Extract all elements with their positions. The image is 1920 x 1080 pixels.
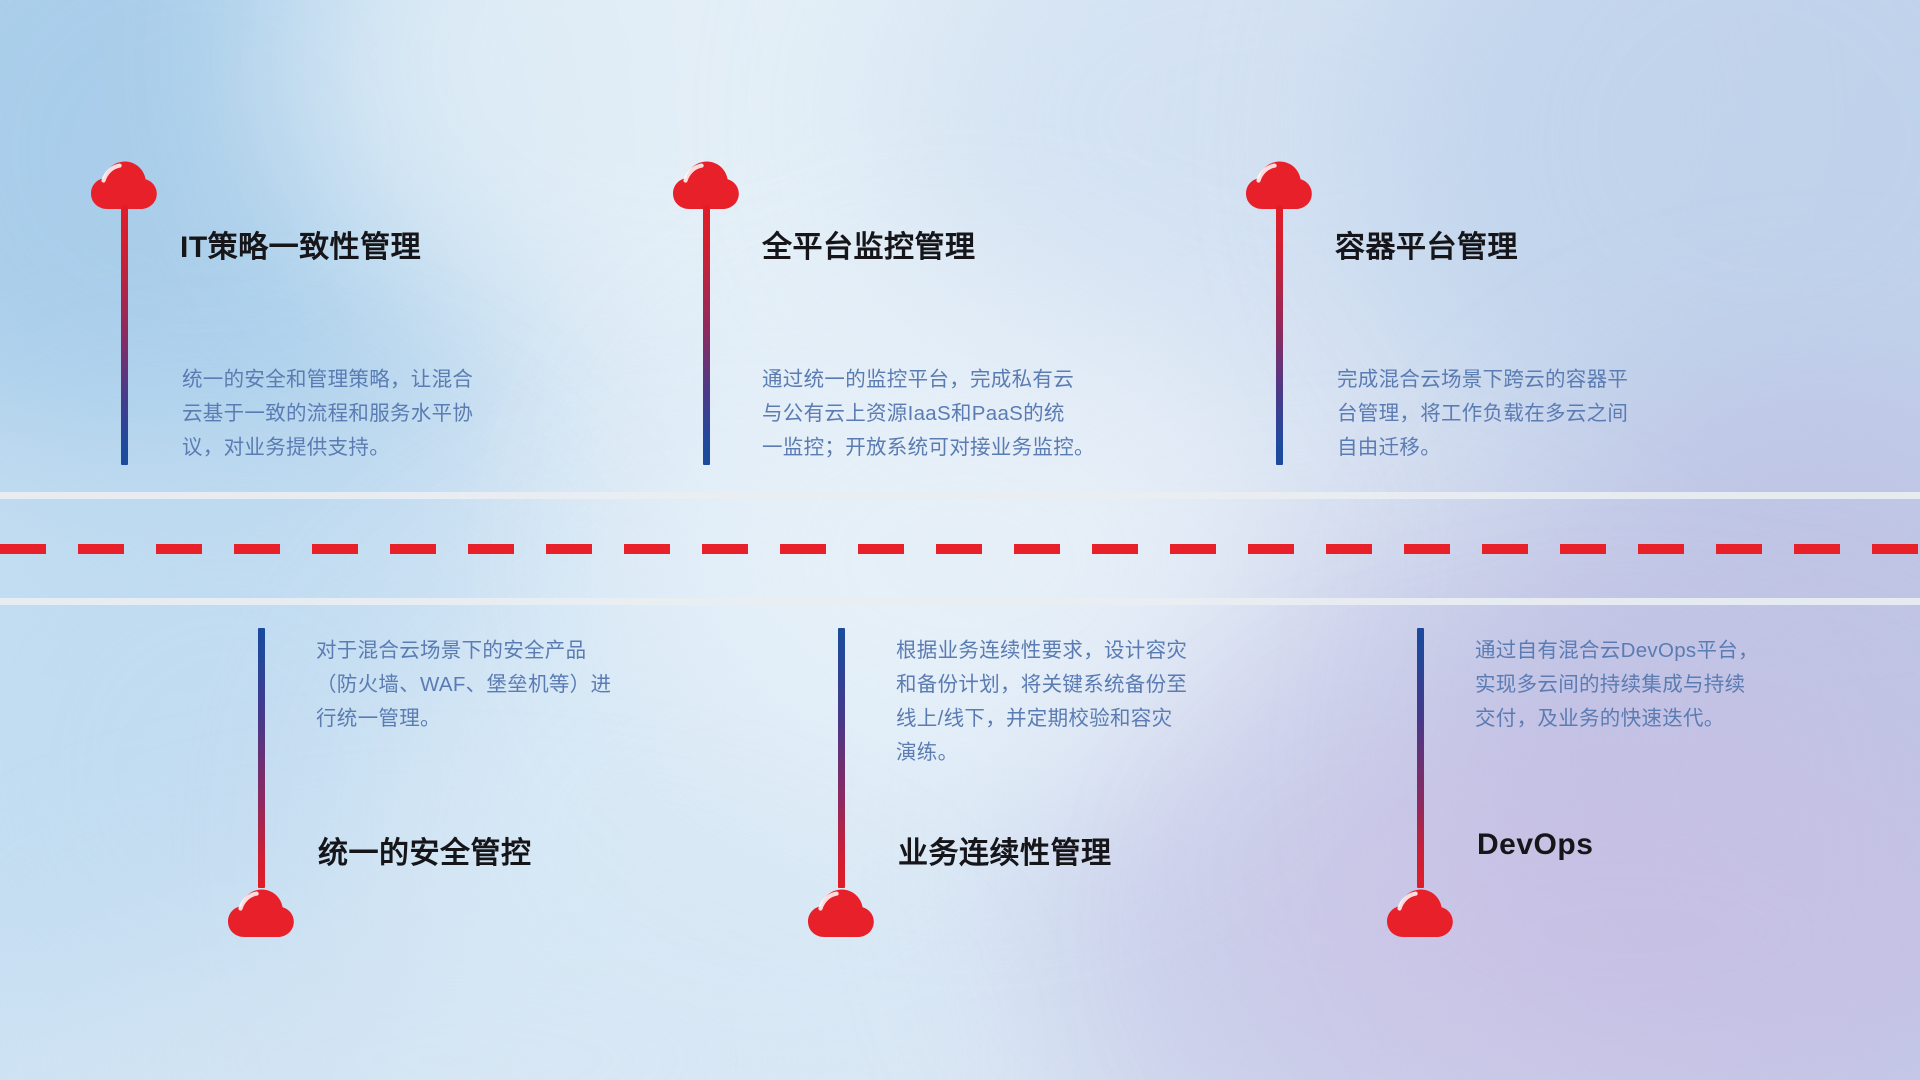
- bottom-heading-2: 业务连续性管理: [898, 828, 1112, 872]
- cloud-icon: [227, 888, 295, 938]
- cloud-icon: [90, 160, 158, 210]
- bottom-body-2: 根据业务连续性要求，设计容灾 和备份计划，将关键系统备份至 线上/线下，并定期校…: [896, 634, 1326, 770]
- cloud-icon: [1386, 888, 1454, 938]
- timeline-bar: [838, 628, 845, 888]
- timeline-bar: [258, 628, 265, 888]
- cloud-icon: [1245, 160, 1313, 210]
- timeline-bar: [121, 205, 128, 465]
- top-heading-2: 全平台监控管理: [762, 222, 976, 266]
- divider-dashed-line: [0, 544, 1920, 554]
- top-body-1: 统一的安全和管理策略，让混合 云基于一致的流程和服务水平协 议，对业务提供支持。: [182, 363, 612, 465]
- bottom-body-3: 通过自有混合云DevOps平台， 实现多云间的持续集成与持续 交付，及业务的快速…: [1475, 634, 1905, 736]
- bottom-body-1: 对于混合云场景下的安全产品 （防火墙、WAF、堡垒机等）进 行统一管理。: [316, 634, 746, 736]
- timeline-bar: [703, 205, 710, 465]
- cloud-icon: [672, 160, 740, 210]
- timeline-bar: [1417, 628, 1424, 888]
- bottom-heading-3: DevOps: [1477, 828, 1593, 862]
- infographic-canvas: IT策略一致性管理 统一的安全和管理策略，让混合 云基于一致的流程和服务水平协 …: [0, 0, 1920, 1080]
- divider-line-top: [0, 492, 1920, 499]
- top-heading-1: IT策略一致性管理: [180, 222, 421, 266]
- timeline-bar: [1276, 205, 1283, 465]
- top-body-2: 通过统一的监控平台，完成私有云 与公有云上资源IaaS和PaaS的统 一监控；开…: [762, 363, 1202, 465]
- cloud-icon: [807, 888, 875, 938]
- top-body-3: 完成混合云场景下跨云的容器平 台管理，将工作负载在多云之间 自由迁移。: [1337, 363, 1777, 465]
- bottom-heading-1: 统一的安全管控: [318, 828, 532, 872]
- top-heading-3: 容器平台管理: [1335, 222, 1518, 266]
- divider-line-bottom: [0, 598, 1920, 605]
